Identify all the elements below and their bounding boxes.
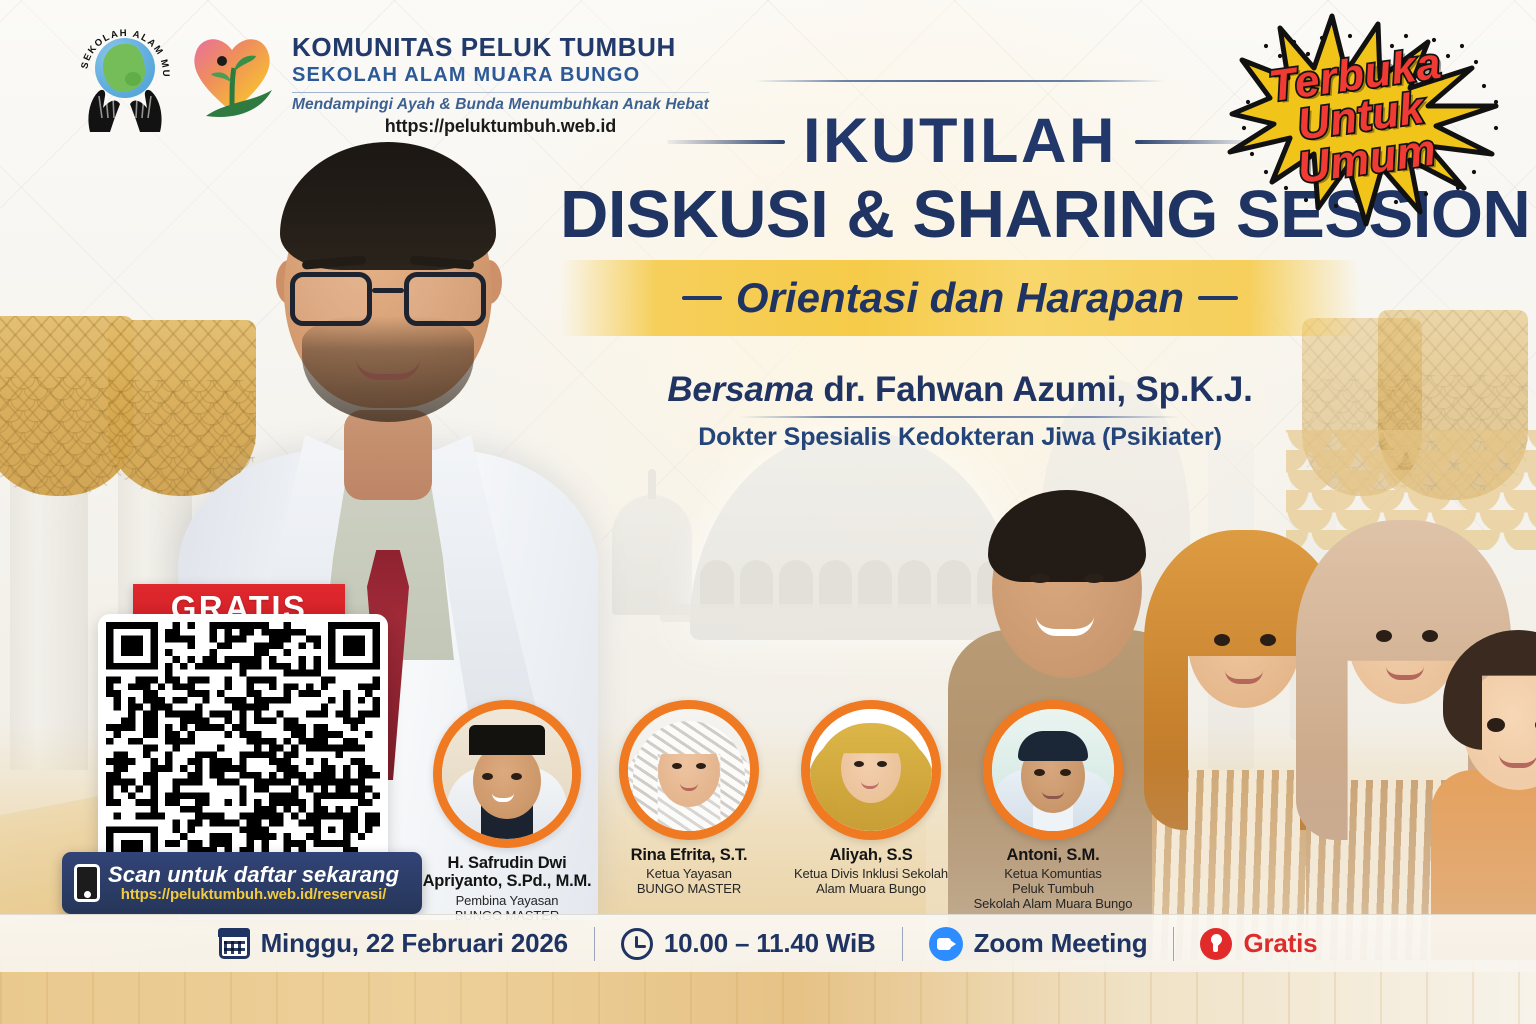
doctor-neck: [344, 410, 432, 500]
minaret-silhouette: [612, 495, 692, 615]
doctor-glasses: [290, 272, 486, 328]
speaker-role-4-line2: Peluk Tumbuh: [966, 882, 1140, 897]
info-date: Minggu, 22 Februari 2026: [193, 928, 594, 959]
info-platform: Zoom Meeting: [903, 927, 1174, 961]
speaker-name-1-line1: H. Safrudin Dwi: [420, 854, 594, 872]
org-subtitle: SEKOLAH ALAM MUARA BUNGO: [292, 63, 709, 87]
info-price-text: Gratis: [1243, 928, 1317, 959]
speaker-role-2-line2: BUNGO MASTER: [602, 882, 776, 897]
event-info-bar: Minggu, 22 Februari 2026 10.00 – 11.40 W…: [0, 914, 1536, 972]
scan-label: Scan untuk daftar sekarang: [108, 863, 399, 887]
subtitle-band: Orientasi dan Harapan: [560, 260, 1360, 336]
info-platform-text: Zoom Meeting: [974, 928, 1148, 959]
speaker-avatar-2: [619, 700, 759, 840]
qr-card[interactable]: [98, 614, 388, 882]
speaker-role-3-line2: Alam Muara Bungo: [784, 882, 958, 897]
speaker-name-4-line1: Antoni, S.M.: [966, 846, 1140, 864]
open-to-public-badge: Terbuka Untuk Umum: [1196, 2, 1526, 232]
keynote-divider: [740, 416, 1180, 418]
price-tag-icon: [1200, 928, 1232, 960]
clock-icon: [621, 928, 653, 960]
calendar-icon: [219, 928, 250, 959]
keynote-prefix: Bersama: [667, 370, 813, 409]
speaker-card-1: H. Safrudin Dwi Apriyanto, S.Pd., M.M. P…: [420, 700, 594, 924]
speaker-avatar-1: [433, 700, 581, 848]
scan-cta-banner[interactable]: Scan untuk daftar sekarang https://peluk…: [62, 852, 422, 914]
speaker-avatar-3: [801, 700, 941, 840]
speaker-role-2-line1: Ketua Yayasan: [602, 867, 776, 882]
speaker-avatar-4: [983, 700, 1123, 840]
qr-code[interactable]: [106, 622, 380, 874]
heart-plant-logo: [186, 24, 278, 128]
info-date-text: Minggu, 22 Februari 2026: [261, 928, 568, 959]
kicker-dash-left: [667, 140, 785, 144]
speaker-role-3-line1: Ketua Divis Inklusi Sekolah: [784, 867, 958, 882]
title-top-rule: [755, 80, 1165, 82]
doctor-hair: [280, 142, 496, 270]
badge-text: Terbuka Untuk Umum: [1182, 0, 1536, 254]
speaker-name-3-line1: Aliyah, S.S: [784, 846, 958, 864]
org-tagline: Mendampingi Ayah & Bunda Menumbuhkan Ana…: [292, 96, 709, 114]
brand-header: SEKOLAH ALAM MUARA BUNGO: [78, 24, 709, 137]
info-time: 10.00 – 11.40 WiB: [595, 928, 902, 960]
brand-divider: [292, 92, 709, 93]
title-subtitle: Orientasi dan Harapan: [736, 274, 1184, 322]
keynote-name: dr. Fahwan Azumi, Sp.K.J.: [823, 370, 1252, 409]
keynote-role: Dokter Spesialis Kedokteran Jiwa (Psikia…: [560, 423, 1360, 452]
event-poster: SEKOLAH ALAM MUARA BUNGO: [0, 0, 1536, 1024]
speaker-role-4-line1: Ketua Komuntias: [966, 867, 1140, 882]
heart-plant-icon: [186, 24, 278, 128]
phone-icon: [74, 864, 100, 902]
hands-icon: [84, 80, 166, 132]
org-website: https://peluktumbuh.web.id: [292, 116, 709, 137]
info-time-text: 10.00 – 11.40 WiB: [664, 928, 876, 959]
keynote-speaker-block: Bersama dr. Fahwan Azumi, Sp.K.J. Dokter…: [560, 370, 1360, 452]
zoom-video-icon: [929, 927, 963, 961]
speaker-card-3: Aliyah, S.S Ketua Divis Inklusi Sekolah …: [784, 700, 958, 897]
subtitle-dash-right: [1198, 296, 1238, 300]
brand-text: KOMUNITAS PELUK TUMBUH SEKOLAH ALAM MUAR…: [292, 24, 709, 137]
speaker-card-4: Antoni, S.M. Ketua Komuntias Peluk Tumbu…: [966, 700, 1140, 912]
speaker-card-2: Rina Efrita, S.T. Ketua Yayasan BUNGO MA…: [602, 700, 776, 897]
org-name: KOMUNITAS PELUK TUMBUH: [292, 34, 709, 61]
subtitle-dash-left: [682, 296, 722, 300]
title-kicker: IKUTILAH: [803, 110, 1117, 173]
scan-url[interactable]: https://peluktumbuh.web.id/reservasi/: [108, 887, 399, 903]
speaker-role-1-line1: Pembina Yayasan: [420, 894, 594, 909]
keynote-line: Bersama dr. Fahwan Azumi, Sp.K.J.: [560, 370, 1360, 410]
speaker-role-4-line3: Sekolah Alam Muara Bungo: [966, 897, 1140, 912]
speaker-name-2-line1: Rina Efrita, S.T.: [602, 846, 776, 864]
speakers-row: H. Safrudin Dwi Apriyanto, S.Pd., M.M. P…: [420, 700, 1140, 910]
info-price: Gratis: [1174, 928, 1343, 960]
globe-in-hands-logo: SEKOLAH ALAM MUARA BUNGO: [78, 24, 172, 132]
speaker-name-1-line2: Apriyanto, S.Pd., M.M.: [420, 872, 594, 890]
